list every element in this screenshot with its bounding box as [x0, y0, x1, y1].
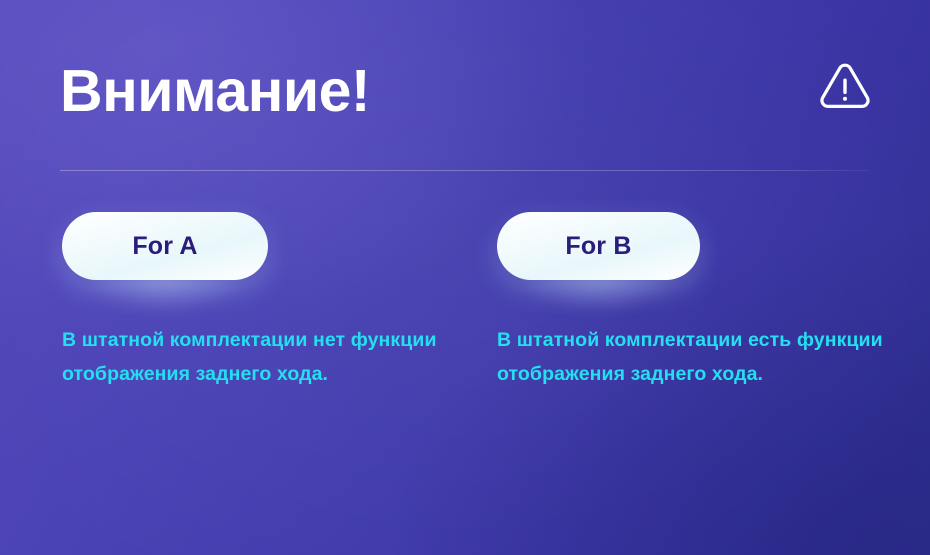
header: Внимание!	[60, 48, 874, 134]
for-a-button[interactable]: For A	[62, 212, 268, 280]
for-b-description: В штатной комплектации есть функции отоб…	[497, 280, 887, 391]
for-a-description: В штатной комплектации нет функции отобр…	[62, 280, 452, 391]
page-title: Внимание!	[60, 48, 370, 134]
warning-triangle-icon	[816, 56, 874, 114]
warning-slide: Внимание! For A В штатной комплектации н…	[0, 0, 930, 555]
for-b-button[interactable]: For B	[497, 212, 700, 280]
header-divider	[60, 170, 870, 171]
column-for-b: For B В штатной комплектации есть функци…	[497, 212, 897, 391]
column-for-a: For A В штатной комплектации нет функции…	[62, 212, 462, 391]
pill-wrapper-b: For B	[497, 212, 700, 280]
pill-wrapper-a: For A	[62, 212, 268, 280]
